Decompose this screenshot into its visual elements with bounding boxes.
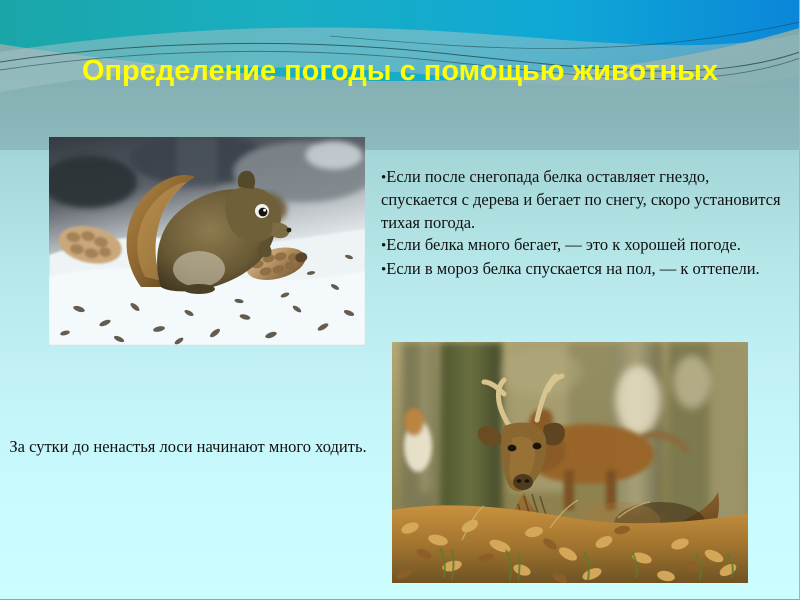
bullet-text: Если в мороз белка спускается на пол, — …: [386, 259, 759, 278]
bullet-item: •Если после снегопада белка оставляет гн…: [381, 166, 781, 234]
bullet-item: •Если в мороз белка спускается на пол, —…: [381, 258, 781, 281]
bullet-text: Если белка много бегает, — это к хорошей…: [386, 235, 741, 254]
bullet-list: •Если после снегопада белка оставляет гн…: [381, 166, 781, 281]
squirrel-photo: [49, 137, 365, 345]
squirrel-photo-image: [49, 137, 365, 345]
moose-caption: За сутки до ненастья лоси начинают много…: [8, 435, 368, 458]
bullet-item: •Если белка много бегает, — это к хороше…: [381, 234, 781, 257]
slide-canvas: Определение погоды с помощью животных: [0, 0, 800, 600]
bullet-text: Если после снегопада белка оставляет гне…: [381, 167, 781, 232]
page-title: Определение погоды с помощью животных: [60, 52, 740, 90]
deer-photo: [392, 342, 748, 583]
deer-photo-image: [392, 342, 748, 583]
